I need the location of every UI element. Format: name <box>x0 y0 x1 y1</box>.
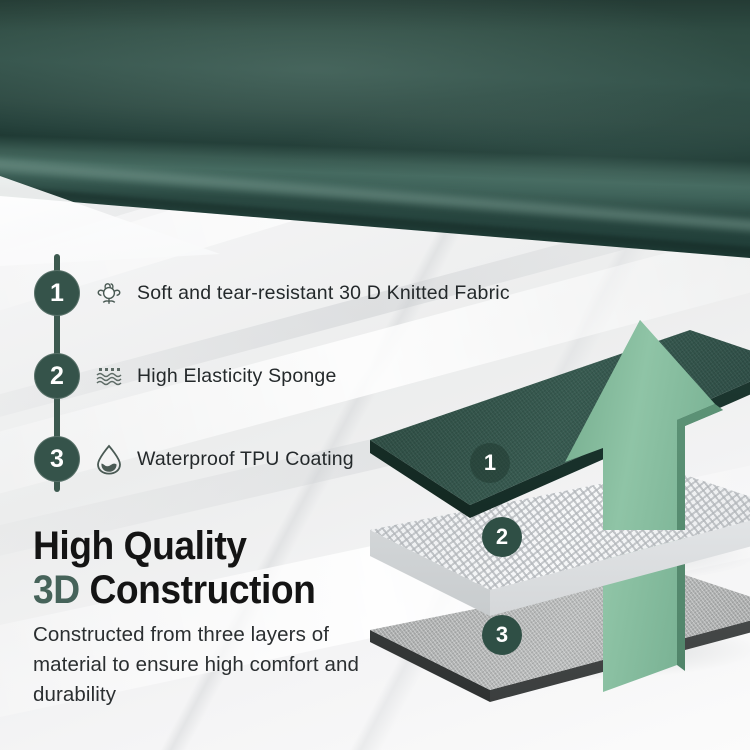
headline-line-2-rest: Construction <box>80 568 316 612</box>
feature-badge-3: 3 <box>34 436 80 482</box>
cotton-boll-icon <box>92 276 126 310</box>
layer-diagram: 1 2 3 <box>330 320 750 750</box>
layer-badge-1: 1 <box>470 443 510 483</box>
layer-badge-3: 3 <box>482 615 522 655</box>
body-paragraph: Constructed from three layers of materia… <box>33 620 363 710</box>
feature-label-3: Waterproof TPU Coating <box>137 436 354 482</box>
sponge-wave-icon <box>92 359 126 393</box>
infographic-canvas: 1 Soft and tear-resistant 30 D Knitt <box>0 0 750 750</box>
feature-badge-1: 1 <box>34 270 80 316</box>
feature-label-2: High Elasticity Sponge <box>137 353 337 399</box>
layer-badge-2: 2 <box>482 517 522 557</box>
headline-accent: 3D <box>33 568 80 612</box>
feature-badge-2: 2 <box>34 353 80 399</box>
feature-label-1: Soft and tear-resistant 30 D Knitted Fab… <box>137 270 510 316</box>
water-drop-icon <box>92 442 126 476</box>
